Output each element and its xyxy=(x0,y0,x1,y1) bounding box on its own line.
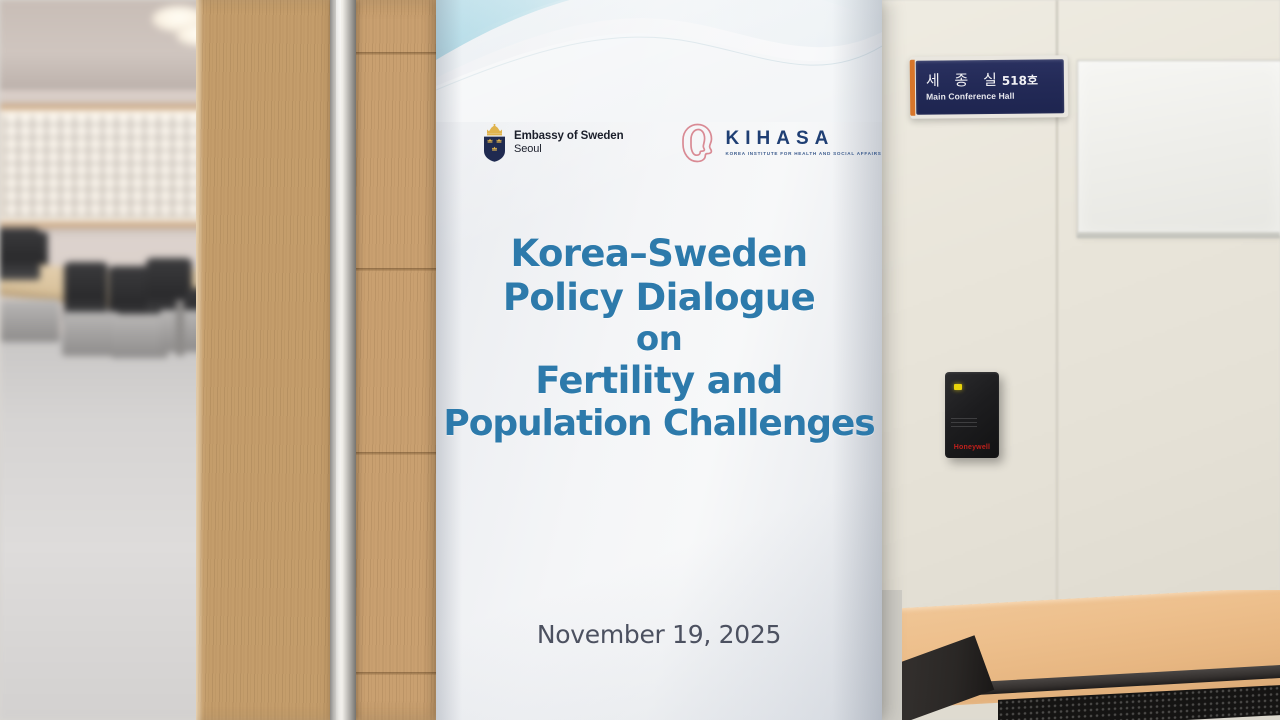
title-line-5: Population Challenges xyxy=(436,403,882,445)
sign-plate: 세 종 실518호 Main Conference Hall xyxy=(916,59,1065,115)
title-line-3: on xyxy=(436,319,882,359)
kihasa-text-block: KIHASA KOREA INSTITUTE FOR HEALTH AND SO… xyxy=(726,129,882,157)
title-line-4: Fertility and xyxy=(436,359,882,403)
event-banner: Embassy of Sweden Seoul KIHASA KOREA INS… xyxy=(436,0,882,720)
framed-calligraphy-artwork xyxy=(0,104,212,228)
chair-legs xyxy=(0,300,60,342)
kihasa-head-profile-icon xyxy=(672,120,718,166)
wood-door-jamb xyxy=(196,0,338,720)
chrome-post xyxy=(330,0,356,720)
sign-korean-text: 세 종 실 xyxy=(926,71,1002,90)
card-reader-brand: Honeywell xyxy=(945,444,999,451)
wall-panel-lip xyxy=(1077,232,1280,238)
sign-accent-stripe xyxy=(910,60,916,116)
sign-korean-label: 세 종 실518호 xyxy=(926,72,1064,89)
chair xyxy=(0,228,40,280)
card-reader-vents xyxy=(951,418,977,428)
swedish-three-crowns-crest-icon xyxy=(482,124,507,162)
embassy-of-sweden-logo: Embassy of Sweden Seoul xyxy=(482,124,624,162)
wall-whiteboard-panel xyxy=(1077,60,1280,237)
sign-english-label: Main Conference Hall xyxy=(926,90,1064,101)
sign-room-number: 518호 xyxy=(1002,74,1038,88)
title-line-2: Policy Dialogue xyxy=(436,276,882,320)
embassy-city: Seoul xyxy=(514,143,624,155)
banner-title: Korea–Sweden Policy Dialogue on Fertilit… xyxy=(436,232,882,446)
embassy-text-block: Embassy of Sweden Seoul xyxy=(514,130,624,155)
kihasa-wordmark: KIHASA xyxy=(726,129,882,148)
banner-date: November 19, 2025 xyxy=(436,620,882,649)
foreground-table xyxy=(878,590,1280,720)
chair-legs xyxy=(62,312,118,356)
calligraphy-texture xyxy=(3,115,201,217)
table-leg xyxy=(176,300,184,356)
logo-row: Embassy of Sweden Seoul KIHASA KOREA INS… xyxy=(436,112,882,174)
room-sign: 세 종 실518호 Main Conference Hall xyxy=(910,55,1069,119)
wood-highlight xyxy=(196,0,203,720)
kihasa-tagline: KOREA INSTITUTE FOR HEALTH AND SOCIAL AF… xyxy=(726,152,882,157)
card-reader-led-icon xyxy=(954,384,962,390)
wave-graphic-icon xyxy=(436,0,882,122)
title-line-1: Korea–Sweden xyxy=(436,232,882,276)
photo-scene: 세 종 실518호 Main Conference Hall Honeywell xyxy=(0,0,1280,720)
embassy-name: Embassy of Sweden xyxy=(514,130,624,143)
card-reader[interactable]: Honeywell xyxy=(945,372,999,458)
chrome-post-glint xyxy=(336,0,341,720)
kihasa-logo: KIHASA KOREA INSTITUTE FOR HEALTH AND SO… xyxy=(672,120,882,166)
